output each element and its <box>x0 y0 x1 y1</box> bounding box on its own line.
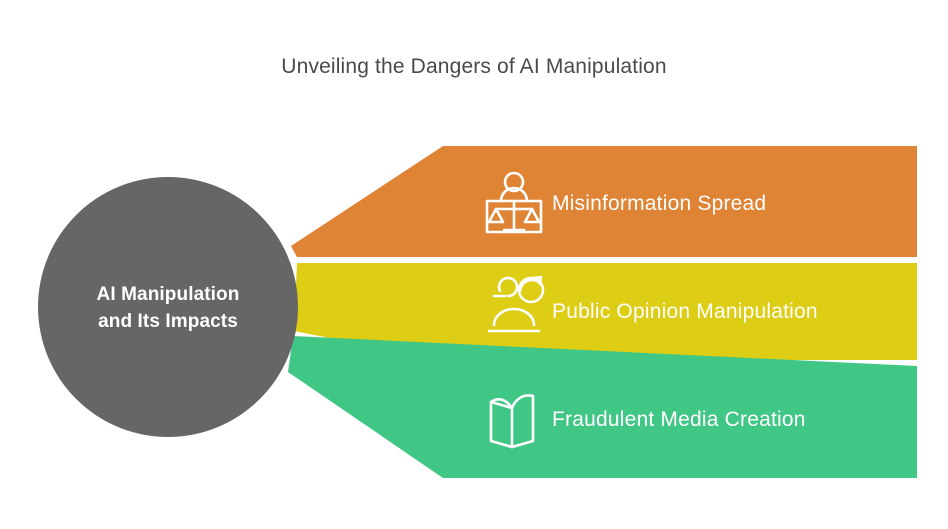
infographic-canvas: Unveiling the Dangers of AI Manipulation <box>0 0 948 529</box>
diagram-graphics <box>0 0 948 529</box>
band-label-public-opinion-manipulation[interactable]: Public Opinion Manipulation <box>552 299 818 325</box>
band-label-fraudulent-media-creation[interactable]: Fraudulent Media Creation <box>552 407 806 433</box>
center-hub-line-2: and Its Impacts <box>48 308 288 335</box>
center-hub-label: AI Manipulation and Its Impacts <box>48 281 288 335</box>
band-label-misinformation-spread[interactable]: Misinformation Spread <box>552 191 766 217</box>
center-hub-line-1: AI Manipulation <box>48 281 288 308</box>
